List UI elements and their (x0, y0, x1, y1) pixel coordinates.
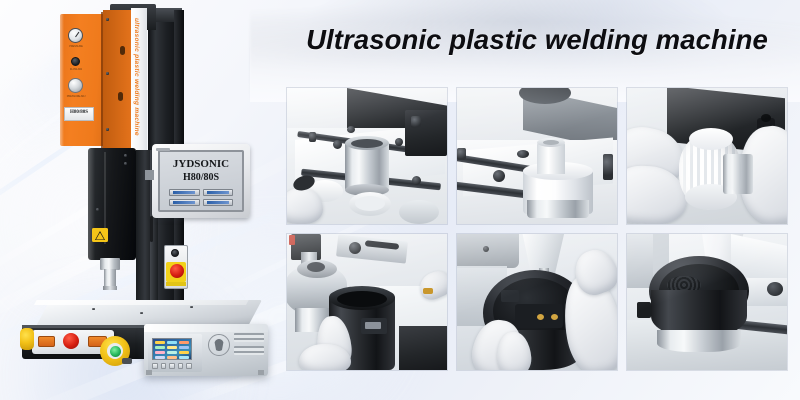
high-voltage-warning-icon (92, 228, 108, 242)
generator-key-4[interactable] (178, 363, 184, 369)
left-handle[interactable] (20, 328, 34, 350)
hmi-model: H80/80S (165, 171, 237, 184)
thumbnail-2[interactable] (457, 88, 617, 224)
table-stop-button[interactable] (63, 333, 79, 349)
hmi-button-3[interactable] (169, 199, 200, 206)
generator-key-5[interactable] (186, 363, 192, 369)
handwheel-hub[interactable] (110, 346, 121, 357)
hmi-brand: JYDSONIC (165, 158, 237, 171)
thumbnail-1[interactable] (287, 88, 447, 224)
ultrasonic-welder-machine: ultrasonic plastic welding machine PRESS… (0, 0, 290, 400)
product-thumbnail-gallery (287, 88, 787, 370)
thumbnail-3[interactable] (627, 88, 787, 224)
machine-side-branding: ultrasonic plastic welding machine (133, 18, 140, 136)
thumbnail-4[interactable] (287, 234, 447, 370)
hmi-button-1[interactable] (169, 189, 200, 196)
hmi-screen[interactable]: JYDSONIC H80/80S (158, 150, 244, 212)
ventilation-grille-top (234, 333, 264, 342)
control-switch-left[interactable] (38, 336, 55, 347)
hmi-button-2[interactable] (203, 189, 234, 196)
thumbnail-5[interactable] (457, 234, 617, 370)
thumbnail-6[interactable] (627, 234, 787, 370)
pressure-adjust-knob[interactable] (68, 78, 83, 93)
page-title: Ultrasonic plastic welding machine (287, 24, 787, 56)
machine-model-plate: H80/80S (64, 110, 94, 115)
hmi-touch-panel[interactable]: JYDSONIC H80/80S (152, 144, 250, 218)
flow-control-knob[interactable] (71, 57, 80, 66)
generator-key-3[interactable] (169, 363, 175, 369)
plastic-disc-c (399, 200, 439, 224)
generator-key-1[interactable] (152, 363, 158, 369)
hmi-button-4[interactable] (203, 199, 234, 206)
generator-lcd-display[interactable] (152, 338, 192, 360)
emergency-stop-button[interactable] (170, 264, 184, 278)
ventilation-grille-bottom (234, 346, 264, 355)
product-banner: Ultrasonic plastic welding machine ultra… (0, 0, 800, 400)
generator-key-2[interactable] (161, 363, 167, 369)
